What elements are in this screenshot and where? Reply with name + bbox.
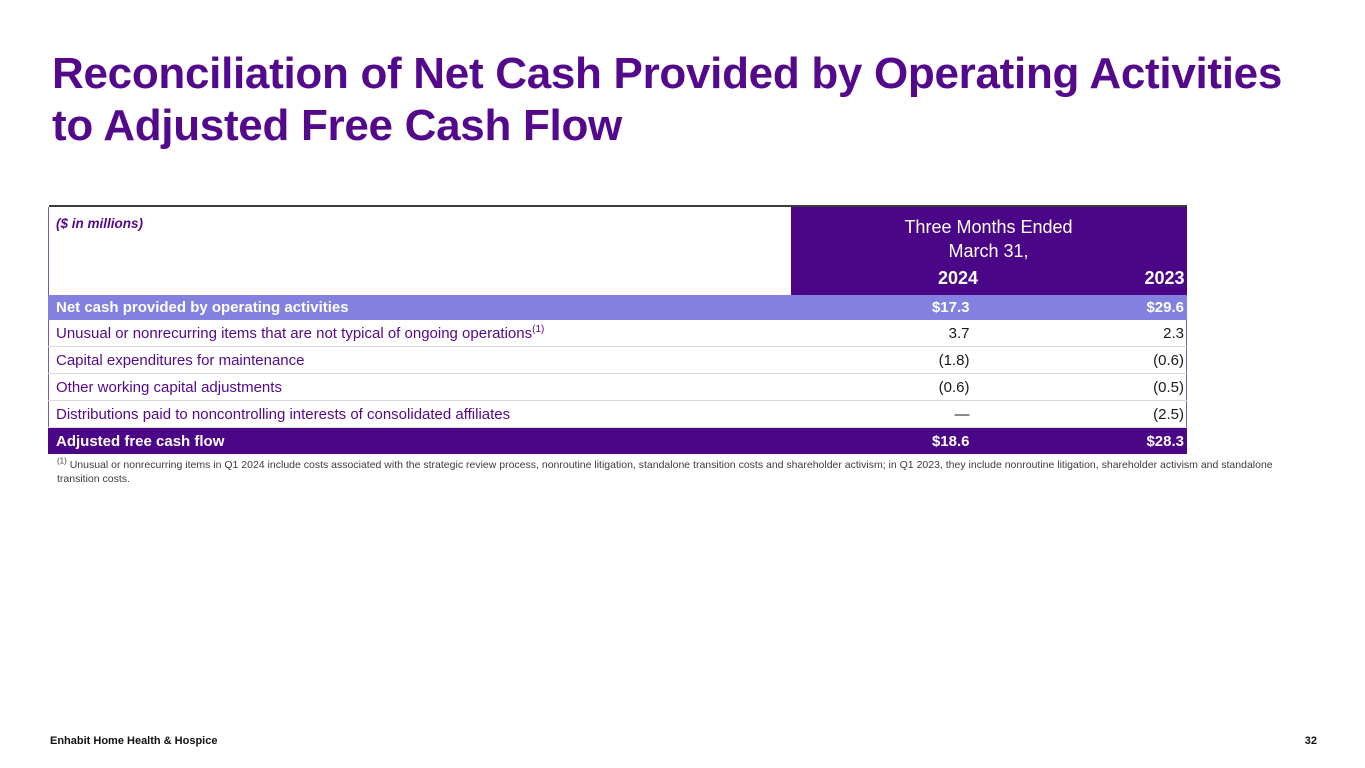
units-label: ($ in millions) bbox=[56, 216, 143, 231]
table-row: Other working capital adjustments (0.6) … bbox=[49, 374, 1187, 401]
row-label: Other working capital adjustments bbox=[49, 374, 791, 401]
units-cell: ($ in millions) bbox=[49, 207, 791, 295]
table-header-row: ($ in millions) Three Months Ended March… bbox=[49, 207, 1187, 295]
page-title: Reconciliation of Net Cash Provided by O… bbox=[52, 48, 1292, 152]
footnote-marker: (1) bbox=[57, 457, 67, 466]
table-total-row: Adjusted free cash flow $18.6 $28.3 bbox=[49, 428, 1187, 455]
row-label: Distributions paid to noncontrolling int… bbox=[49, 401, 791, 428]
row-label: Capital expenditures for maintenance bbox=[49, 347, 791, 374]
year-column-headers: 2024 2023 bbox=[791, 266, 1187, 290]
reconciliation-table: ($ in millions) Three Months Ended March… bbox=[48, 205, 1187, 454]
table-row: Capital expenditures for maintenance (1.… bbox=[49, 347, 1187, 374]
footnote-marker: (1) bbox=[532, 324, 544, 335]
table-row: Unusual or nonrecurring items that are n… bbox=[49, 320, 1187, 347]
period-header-line2: March 31, bbox=[791, 239, 1187, 263]
row-label: Unusual or nonrecurring items that are n… bbox=[49, 320, 791, 347]
row-value-2024: 3.7 bbox=[791, 320, 989, 347]
row-label: Adjusted free cash flow bbox=[49, 428, 791, 455]
row-value-2024: (1.8) bbox=[791, 347, 989, 374]
slide: Reconciliation of Net Cash Provided by O… bbox=[0, 0, 1365, 768]
row-value-2024: — bbox=[791, 401, 989, 428]
reconciliation-table-container: ($ in millions) Three Months Ended March… bbox=[48, 205, 1186, 454]
row-label: Net cash provided by operating activitie… bbox=[49, 295, 791, 320]
table-row: Distributions paid to noncontrolling int… bbox=[49, 401, 1187, 428]
row-value-2024: $18.6 bbox=[791, 428, 989, 455]
column-header-2024: 2024 bbox=[791, 266, 998, 290]
row-value-2023: (0.5) bbox=[989, 374, 1187, 401]
column-header-2023: 2023 bbox=[997, 266, 1187, 290]
row-value-2024: (0.6) bbox=[791, 374, 989, 401]
row-value-2024: $17.3 bbox=[791, 295, 989, 320]
row-label-text: Unusual or nonrecurring items that are n… bbox=[56, 325, 532, 342]
period-header-cell: Three Months Ended March 31, 2024 2023 bbox=[791, 207, 1187, 295]
table-row: Net cash provided by operating activitie… bbox=[49, 295, 1187, 320]
footnote-text: Unusual or nonrecurring items in Q1 2024… bbox=[57, 459, 1273, 485]
row-value-2023: $29.6 bbox=[989, 295, 1187, 320]
row-value-2023: 2.3 bbox=[989, 320, 1187, 347]
period-header-line1: Three Months Ended bbox=[791, 215, 1187, 239]
row-value-2023: (0.6) bbox=[989, 347, 1187, 374]
page-number: 32 bbox=[1305, 735, 1317, 747]
footnote: (1) Unusual or nonrecurring items in Q1 … bbox=[57, 458, 1307, 486]
row-value-2023: (2.5) bbox=[989, 401, 1187, 428]
row-value-2023: $28.3 bbox=[989, 428, 1187, 455]
footer-company-name: Enhabit Home Health & Hospice bbox=[50, 735, 217, 747]
